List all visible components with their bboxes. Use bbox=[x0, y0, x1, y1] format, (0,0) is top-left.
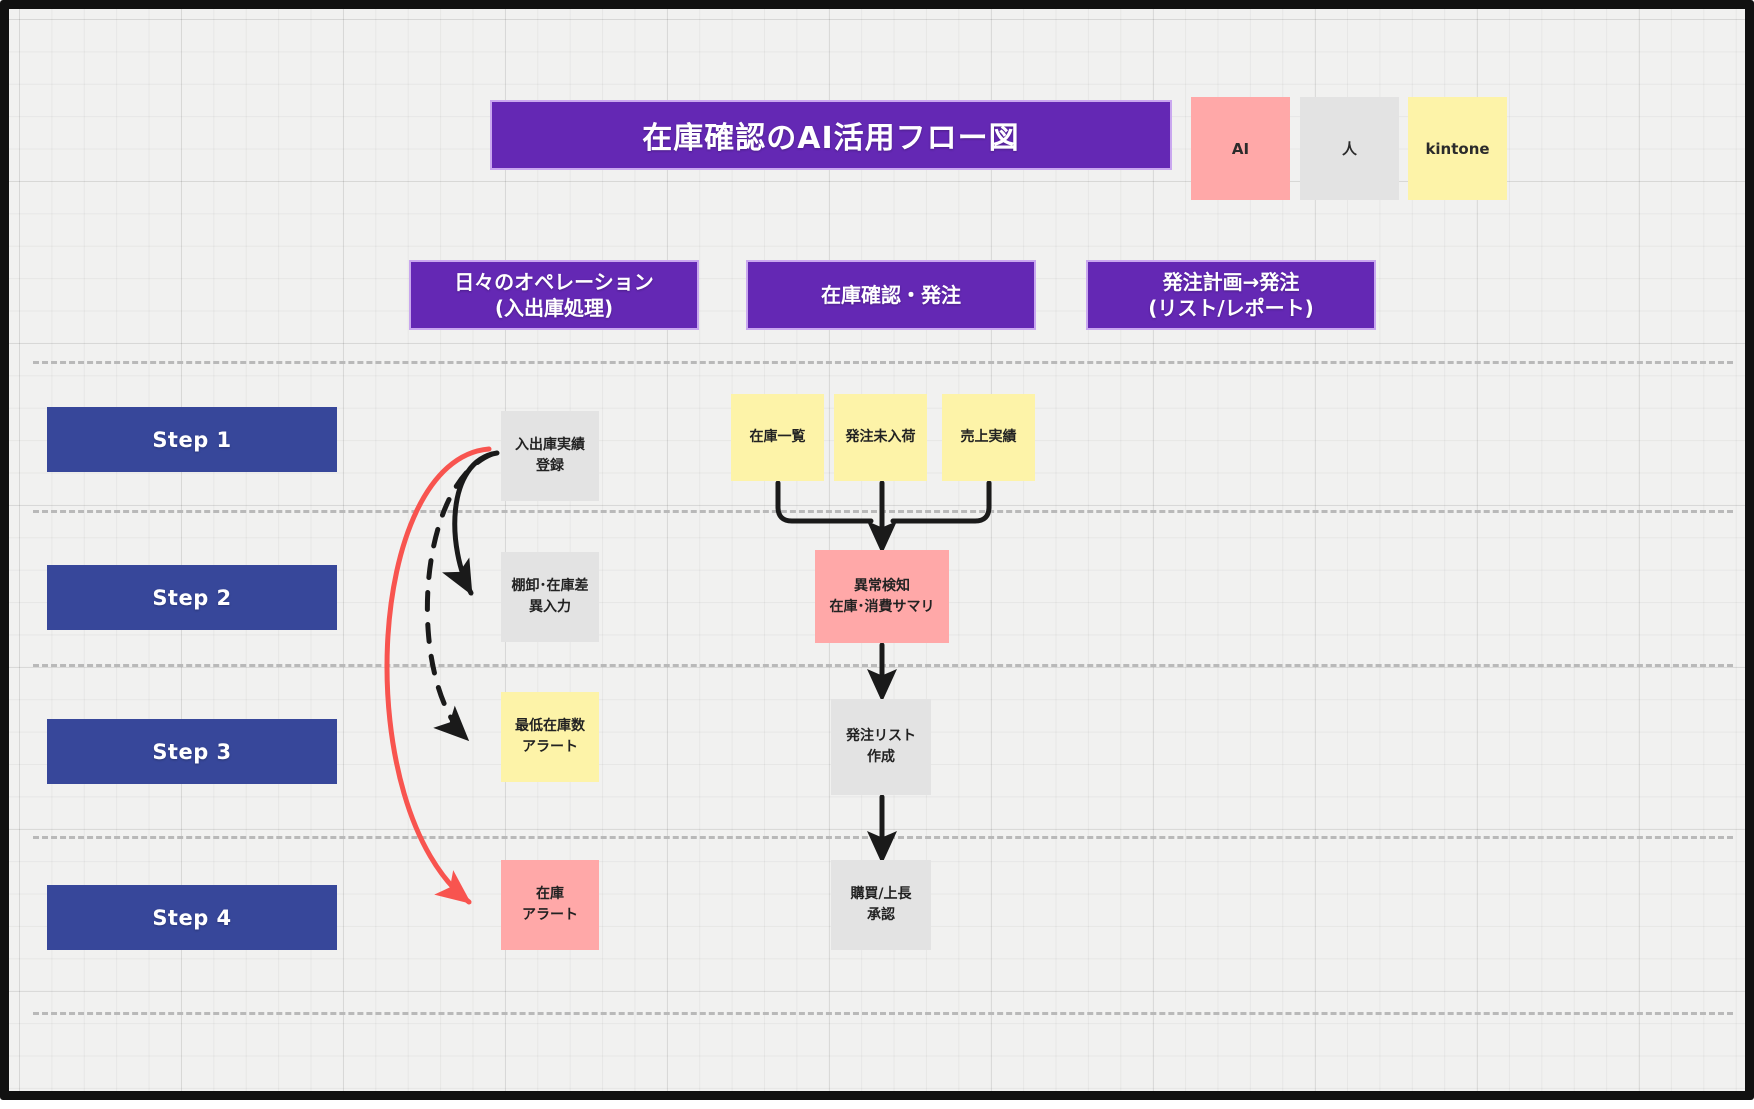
column-header-line1: 在庫確認・発注 bbox=[821, 282, 961, 308]
step-label-1: Step 1 bbox=[47, 407, 337, 472]
node-line1: 発注未入荷 bbox=[846, 427, 916, 448]
node-line2: 在庫･消費サマリ bbox=[830, 597, 935, 618]
node-line1: 入出庫実績 bbox=[515, 435, 585, 456]
node-unreceived-orders[interactable]: 発注未入荷 bbox=[834, 394, 927, 481]
legend-item-ai: AI bbox=[1191, 97, 1290, 200]
node-min-stock-alert[interactable]: 最低在庫数 アラート bbox=[501, 692, 599, 782]
step-label-2: Step 2 bbox=[47, 565, 337, 630]
node-entry-registration[interactable]: 入出庫実績 登録 bbox=[501, 411, 599, 501]
legend-item-kintone: kintone bbox=[1408, 97, 1507, 200]
lane-divider-2 bbox=[33, 510, 1733, 513]
column-header-line1: 発注計画→発注 bbox=[1163, 269, 1300, 295]
lane-divider-1 bbox=[33, 361, 1733, 364]
node-line1: 在庫一覧 bbox=[750, 427, 806, 448]
node-anomaly-detection[interactable]: 異常検知 在庫･消費サマリ bbox=[815, 550, 949, 643]
step-label-4: Step 4 bbox=[47, 885, 337, 950]
lane-divider-5 bbox=[33, 1012, 1733, 1015]
node-order-list-creation[interactable]: 発注リスト 作成 bbox=[831, 699, 931, 795]
column-header-line1: 日々のオペレーション bbox=[454, 269, 654, 295]
node-sales-record[interactable]: 売上実績 bbox=[942, 394, 1035, 481]
legend-label-human: 人 bbox=[1342, 138, 1357, 159]
flowchart-canvas: 在庫確認のAI活用フロー図 AI 人 kintone 日々のオペレーション (入… bbox=[0, 0, 1754, 1100]
node-line1: 棚卸･在庫差 bbox=[512, 576, 589, 597]
node-line2: アラート bbox=[522, 737, 578, 758]
column-header-daily-operation: 日々のオペレーション (入出庫処理) bbox=[409, 260, 699, 330]
connector-sales-record-to-merge bbox=[893, 483, 989, 521]
node-purchase-approval[interactable]: 購買/上長 承認 bbox=[831, 860, 931, 950]
lane-divider-4 bbox=[33, 836, 1733, 839]
column-header-order-plan: 発注計画→発注 (リスト/レポート) bbox=[1086, 260, 1376, 330]
node-line1: 発注リスト bbox=[846, 726, 916, 747]
node-line2: 承認 bbox=[867, 905, 895, 926]
node-line2: 登録 bbox=[536, 456, 564, 477]
node-line1: 在庫 bbox=[536, 884, 564, 905]
arrow-entry-to-inventory-diff bbox=[455, 453, 497, 593]
connector-stock-list-to-merge bbox=[778, 483, 871, 521]
legend-item-human: 人 bbox=[1300, 97, 1399, 200]
arrow-entry-to-stock-alert bbox=[387, 449, 489, 902]
node-line1: 売上実績 bbox=[961, 427, 1017, 448]
node-stock-alert[interactable]: 在庫 アラート bbox=[501, 860, 599, 950]
node-line2: 異入力 bbox=[529, 597, 571, 618]
node-stock-list[interactable]: 在庫一覧 bbox=[731, 394, 824, 481]
legend-label-kintone: kintone bbox=[1425, 140, 1489, 158]
node-line1: 異常検知 bbox=[854, 576, 910, 597]
node-line1: 購買/上長 bbox=[850, 884, 911, 905]
legend-label-ai: AI bbox=[1232, 140, 1249, 158]
arrow-entry-to-min-stock-alert bbox=[427, 454, 492, 739]
node-line2: 作成 bbox=[867, 747, 895, 768]
node-line1: 最低在庫数 bbox=[515, 716, 585, 737]
column-header-line2: (入出庫処理) bbox=[495, 295, 613, 321]
column-header-stock-check-order: 在庫確認・発注 bbox=[746, 260, 1036, 330]
page-title: 在庫確認のAI活用フロー図 bbox=[490, 100, 1172, 170]
node-inventory-diff-input[interactable]: 棚卸･在庫差 異入力 bbox=[501, 552, 599, 642]
column-header-line2: (リスト/レポート) bbox=[1148, 295, 1314, 321]
step-label-3: Step 3 bbox=[47, 719, 337, 784]
node-line2: アラート bbox=[522, 905, 578, 926]
lane-divider-3 bbox=[33, 664, 1733, 667]
